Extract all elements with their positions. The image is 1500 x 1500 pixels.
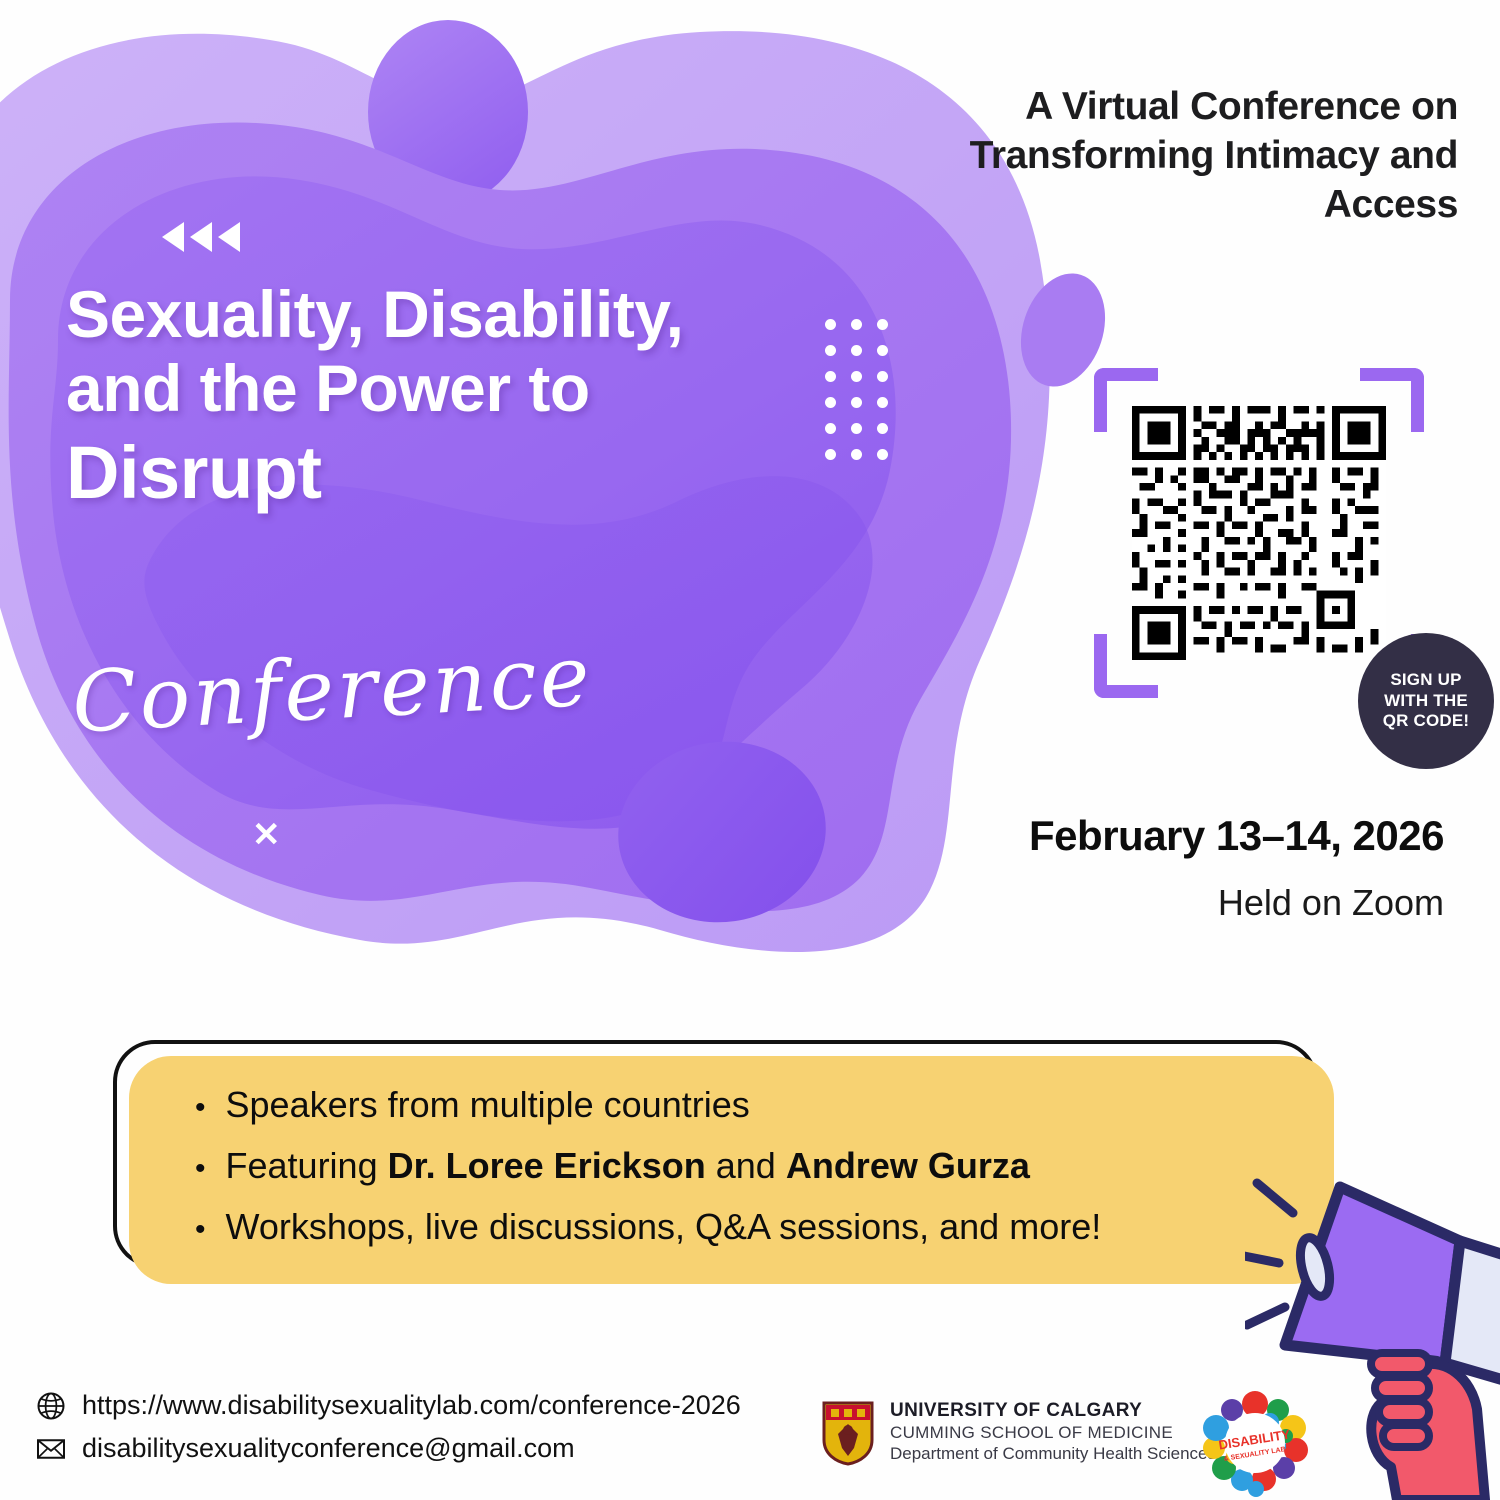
- email-row[interactable]: disabilitysexualityconference@gmail.com: [36, 1433, 741, 1464]
- grid-dot: [851, 423, 862, 434]
- event-date: February 13–14, 2026: [884, 812, 1444, 860]
- website-row[interactable]: https://www.disabilitysexualitylab.com/c…: [36, 1390, 741, 1421]
- grid-dot: [877, 423, 888, 434]
- highlight-pre: Featuring: [226, 1145, 388, 1186]
- conference-poster: A Virtual Conference on Transforming Int…: [0, 0, 1500, 1500]
- globe-icon: [36, 1391, 66, 1421]
- list-item: • Featuring Dr. Loree Erickson and Andre…: [195, 1143, 1290, 1188]
- website-url[interactable]: https://www.disabilitysexualitylab.com/c…: [82, 1390, 741, 1421]
- qr-code-block[interactable]: [1094, 368, 1424, 698]
- grid-dot: [851, 345, 862, 356]
- script-subtitle: Conference: [70, 626, 595, 751]
- list-item: • Speakers from multiple countries: [195, 1082, 1290, 1127]
- grid-dot: [877, 345, 888, 356]
- x-mark-decoration: ✕: [252, 818, 281, 852]
- grid-dot: [877, 449, 888, 460]
- rewind-icon: [162, 222, 240, 252]
- grid-dot: [851, 397, 862, 408]
- university-logo-block: UNIVERSITY OF CALGARY CUMMING SCHOOL OF …: [820, 1400, 1216, 1466]
- grid-dot: [851, 319, 862, 330]
- grid-dot: [851, 371, 862, 382]
- badge-line-3: QR CODE!: [1383, 711, 1470, 732]
- contact-block: https://www.disabilitysexualitylab.com/c…: [36, 1390, 741, 1476]
- highlight-text: Featuring Dr. Loree Erickson and Andrew …: [226, 1143, 1030, 1188]
- envelope-icon: [36, 1434, 66, 1464]
- rewind-triangle: [218, 222, 240, 252]
- school-name: CUMMING SCHOOL OF MEDICINE: [890, 1423, 1216, 1443]
- conference-tagline: A Virtual Conference on Transforming Int…: [898, 82, 1458, 229]
- department-name: Department of Community Health Sciences: [890, 1444, 1216, 1464]
- grid-dot: [825, 345, 836, 356]
- grid-dot: [825, 423, 836, 434]
- grid-dot: [825, 371, 836, 382]
- bullet-icon: •: [195, 1154, 206, 1184]
- title-line-3: Disrupt: [66, 432, 856, 515]
- email-address[interactable]: disabilitysexualityconference@gmail.com: [82, 1433, 575, 1464]
- grid-dot: [851, 449, 862, 460]
- rewind-triangle: [190, 222, 212, 252]
- badge-line-1: SIGN UP: [1383, 670, 1470, 691]
- grid-dot: [825, 397, 836, 408]
- highlight-mid: and: [706, 1145, 786, 1186]
- title-line-1: Sexuality, Disability,: [66, 278, 856, 352]
- highlight-text: Speakers from multiple countries: [226, 1082, 750, 1127]
- page-title: Sexuality, Disability, and the Power to …: [66, 278, 856, 515]
- calgary-shield-icon: [820, 1400, 876, 1466]
- bullet-icon: •: [195, 1093, 206, 1123]
- speaker-name-1: Dr. Loree Erickson: [388, 1145, 706, 1186]
- grid-dot: [877, 397, 888, 408]
- speaker-name-2: Andrew Gurza: [786, 1145, 1030, 1186]
- university-name: UNIVERSITY OF CALGARY: [890, 1400, 1216, 1422]
- bullet-icon: •: [195, 1215, 206, 1245]
- qr-code-image[interactable]: [1132, 406, 1386, 660]
- dot-grid-decoration: [818, 312, 896, 468]
- list-item: • Workshops, live discussions, Q&A sessi…: [195, 1204, 1290, 1249]
- rewind-triangle: [162, 222, 184, 252]
- highlight-text: Workshops, live discussions, Q&A session…: [226, 1204, 1102, 1249]
- qr-signup-badge[interactable]: SIGN UP WITH THE QR CODE!: [1358, 633, 1494, 769]
- grid-dot: [825, 319, 836, 330]
- disability-sexuality-lab-logo: DISABILITY & SEXUALITY LAB: [1196, 1388, 1314, 1500]
- grid-dot: [877, 319, 888, 330]
- title-line-2: and the Power to: [66, 352, 856, 426]
- badge-line-2: WITH THE: [1383, 691, 1470, 712]
- grid-dot: [877, 371, 888, 382]
- grid-dot: [825, 449, 836, 460]
- event-venue: Held on Zoom: [884, 882, 1444, 924]
- highlights-box: • Speakers from multiple countries • Fea…: [129, 1056, 1334, 1284]
